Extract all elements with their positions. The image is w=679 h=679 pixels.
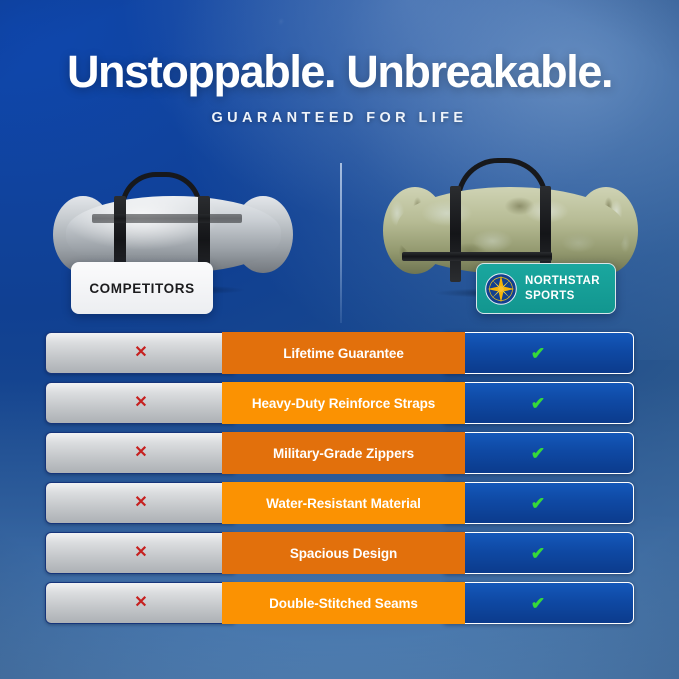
brand-cell: ✔ — [442, 382, 634, 424]
competitor-cell: ✕ — [45, 582, 237, 624]
check-icon: ✔ — [531, 445, 545, 462]
feature-cell: Heavy-Duty Reinforce Straps — [222, 382, 465, 424]
cross-icon: ✕ — [134, 545, 147, 561]
check-icon: ✔ — [531, 595, 545, 612]
table-row: ✕ Spacious Design ✔ — [0, 532, 679, 574]
competitor-cell: ✕ — [45, 532, 237, 574]
brand-cell: ✔ — [442, 432, 634, 474]
header: Unstoppable. Unbreakable. GUARANTEED FOR… — [0, 48, 679, 126]
brand-line-2: SPORTS — [525, 290, 575, 302]
competitor-cell: ✕ — [45, 482, 237, 524]
cross-icon: ✕ — [134, 395, 147, 411]
cross-icon: ✕ — [134, 595, 147, 611]
table-row: ✕ Heavy-Duty Reinforce Straps ✔ — [0, 382, 679, 424]
northstar-compass-star-icon — [484, 272, 518, 306]
feature-label: Lifetime Guarantee — [283, 346, 404, 361]
feature-cell: Lifetime Guarantee — [222, 332, 465, 374]
brand-line-1: NORTHSTAR — [525, 275, 600, 287]
feature-cell: Spacious Design — [222, 532, 465, 574]
bag-seam — [92, 214, 242, 223]
northstar-brand-badge: NORTHSTARSPORTS — [476, 263, 616, 314]
feature-label: Military-Grade Zippers — [273, 446, 414, 461]
bag-strap-left — [450, 186, 461, 282]
feature-cell: Water-Resistant Material — [222, 482, 465, 524]
cross-icon: ✕ — [134, 445, 147, 461]
vertical-divider — [340, 163, 342, 323]
bag-bottom-strap — [402, 252, 552, 261]
northstar-brand-text: NORTHSTARSPORTS — [525, 274, 600, 302]
brand-cell: ✔ — [442, 482, 634, 524]
feature-cell: Military-Grade Zippers — [222, 432, 465, 474]
competitors-label: COMPETITORS — [71, 262, 213, 314]
brand-cell: ✔ — [442, 582, 634, 624]
competitor-cell: ✕ — [45, 332, 237, 374]
table-row: ✕ Double-Stitched Seams ✔ — [0, 582, 679, 624]
table-row: ✕ Lifetime Guarantee ✔ — [0, 332, 679, 374]
table-row: ✕ Water-Resistant Material ✔ — [0, 482, 679, 524]
competitors-label-text: COMPETITORS — [89, 281, 194, 296]
competitor-cell: ✕ — [45, 432, 237, 474]
cross-icon: ✕ — [134, 345, 147, 361]
feature-label: Spacious Design — [290, 546, 397, 561]
competitor-cell: ✕ — [45, 382, 237, 424]
comparison-table: ✕ Lifetime Guarantee ✔ ✕ Heavy-Duty Rein… — [0, 332, 679, 632]
table-row: ✕ Military-Grade Zippers ✔ — [0, 432, 679, 474]
brand-cell: ✔ — [442, 532, 634, 574]
feature-cell: Double-Stitched Seams — [222, 582, 465, 624]
page-title: Unstoppable. Unbreakable. — [0, 48, 679, 95]
feature-label: Double-Stitched Seams — [269, 596, 418, 611]
check-icon: ✔ — [531, 345, 545, 362]
check-icon: ✔ — [531, 495, 545, 512]
check-icon: ✔ — [531, 395, 545, 412]
cross-icon: ✕ — [134, 495, 147, 511]
check-icon: ✔ — [531, 545, 545, 562]
brand-cell: ✔ — [442, 332, 634, 374]
page-subtitle: GUARANTEED FOR LIFE — [0, 110, 679, 126]
feature-label: Water-Resistant Material — [266, 496, 421, 511]
feature-label: Heavy-Duty Reinforce Straps — [252, 396, 435, 411]
